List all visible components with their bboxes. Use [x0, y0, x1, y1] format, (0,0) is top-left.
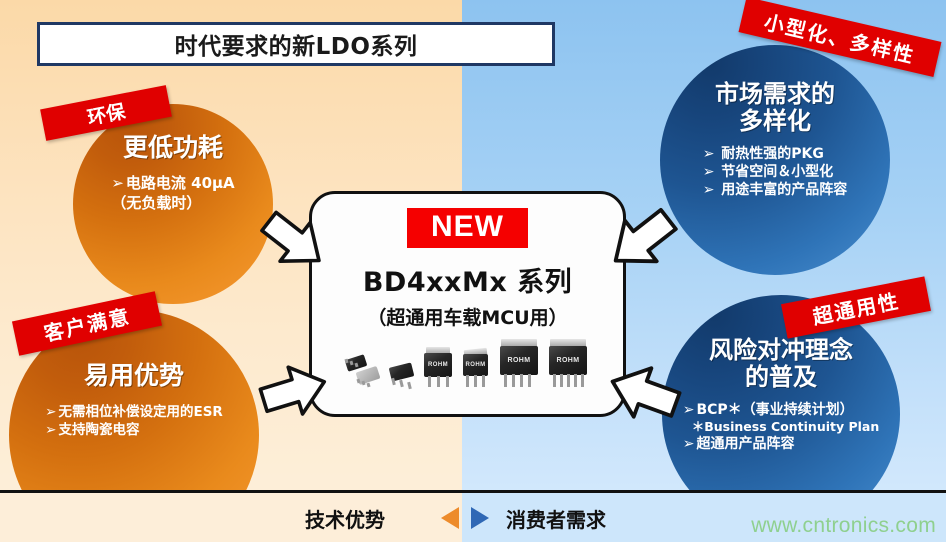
- circle-market-demand-heading: 市场需求的 多样化: [715, 81, 835, 135]
- package-d2pak-small-icon: ROHM: [461, 347, 491, 389]
- list-item: ➢BCP＊（事业持续计划）: [683, 401, 880, 419]
- list-item-label: 用途丰富的产品阵容: [721, 182, 847, 198]
- product-card: NEW BD4xxMx 系列 （超通用车载MCU用）: [309, 191, 626, 417]
- heading-line-2: 多样化: [715, 108, 835, 135]
- circle-low-power-body: ➢电路电流 40μA （无负载时）: [111, 174, 234, 213]
- package-to252-5pin-icon: ROHM: [498, 339, 540, 389]
- arrow-from-ease-of-use-circle: [258, 355, 330, 427]
- arrow-from-low-power-circle: [258, 205, 330, 277]
- package-dpak-icon: ROHM: [422, 347, 454, 389]
- list-item: ➢ 节省空间＆小型化: [703, 163, 848, 181]
- arrow-from-risk-hedge-circle: [606, 355, 682, 431]
- heading-line-1: 风险对冲理念: [709, 337, 853, 364]
- circle-low-power-heading: 更低功耗: [123, 134, 223, 162]
- list-item-label: 电路电流 40μA: [126, 174, 235, 192]
- list-item: ➢超通用产品阵容: [683, 435, 880, 453]
- package-brand-label: ROHM: [424, 362, 452, 368]
- bullet-arrow-icon: ➢: [683, 436, 695, 452]
- bullet-arrow-icon: ➢: [703, 146, 715, 162]
- footer-left-label: 技术优势: [305, 504, 385, 533]
- product-subtitle: （超通用车载MCU用）: [367, 303, 567, 330]
- heading-line-1: 市场需求的: [715, 81, 835, 108]
- list-item: ➢支持陶瓷电容: [45, 422, 223, 440]
- list-item-label: ＊Business Continuity Plan: [692, 419, 880, 434]
- slide-canvas: 时代要求的新LDO系列 更低功耗 ➢电路电流 40μA （无负载时） 环保 易用…: [0, 0, 946, 542]
- list-item-label: 超通用产品阵容: [696, 436, 794, 452]
- package-to263-5pin-icon: ROHM: [547, 339, 589, 389]
- circle-risk-hedge-heading: 风险对冲理念 的普及: [709, 337, 853, 391]
- circle-market-demand: 市场需求的 多样化 ➢ 耐热性强的PKG ➢ 节省空间＆小型化 ➢ 用途丰富的产…: [660, 45, 890, 275]
- bullet-arrow-icon: ➢: [683, 402, 695, 418]
- circle-ease-of-use-body: ➢无需相位补偿设定用的ESR ➢支持陶瓷电容: [45, 404, 223, 439]
- circle-ease-of-use-heading: 易用优势: [84, 362, 184, 390]
- package-sop8-icon: [346, 355, 382, 389]
- package-brand-label: ROHM: [549, 357, 587, 364]
- heading-line-2: 的普及: [709, 364, 853, 391]
- list-item: ➢ 用途丰富的产品阵容: [703, 181, 848, 199]
- list-item-label: 无需相位补偿设定用的ESR: [58, 404, 222, 420]
- bullet-arrow-icon: ➢: [45, 422, 56, 438]
- footer-divider: [0, 490, 946, 493]
- list-item-label: BCP＊（事业持续计划）: [696, 402, 853, 418]
- list-item: （无负载时）: [111, 194, 234, 214]
- circle-low-power: 更低功耗 ➢电路电流 40μA （无负载时）: [73, 104, 273, 304]
- bullet-arrow-icon: ➢: [703, 164, 715, 180]
- slide-title-box: 时代要求的新LDO系列: [37, 22, 555, 66]
- page-title: 时代要求的新LDO系列: [175, 27, 418, 61]
- triangle-left-icon: [441, 507, 459, 529]
- list-item: ➢ 耐热性强的PKG: [703, 145, 848, 163]
- list-item-label: 节省空间＆小型化: [721, 164, 833, 180]
- package-sot223-icon: [389, 363, 415, 389]
- package-brand-label: ROHM: [500, 357, 538, 364]
- list-item-label: 支持陶瓷电容: [58, 422, 139, 438]
- new-badge: NEW: [407, 208, 528, 248]
- watermark: www.cntronics.com: [751, 514, 936, 538]
- list-item: ➢电路电流 40μA: [111, 174, 234, 194]
- bullet-arrow-icon: ➢: [45, 404, 56, 420]
- product-part-number: BD4xxMx 系列: [363, 260, 572, 299]
- list-item-label: （无负载时）: [111, 194, 201, 212]
- circle-risk-hedge-body: ➢BCP＊（事业持续计划） ＊Business Continuity Plan …: [683, 401, 880, 454]
- ribbon-badge-label: 环保: [85, 96, 127, 130]
- footer-right-label: 消费者需求: [506, 504, 606, 533]
- package-lineup-images: ROHM ROHM ROHM: [346, 337, 589, 389]
- bullet-arrow-icon: ➢: [703, 182, 715, 198]
- circle-market-demand-body: ➢ 耐热性强的PKG ➢ 节省空间＆小型化 ➢ 用途丰富的产品阵容: [703, 145, 848, 200]
- list-item-label: 耐热性强的PKG: [721, 146, 824, 162]
- list-item: ➢无需相位补偿设定用的ESR: [45, 404, 223, 422]
- package-brand-label: ROHM: [463, 362, 488, 368]
- list-item: ＊Business Continuity Plan: [683, 419, 880, 435]
- arrow-from-market-demand-circle: [604, 202, 680, 278]
- triangle-right-icon: [471, 507, 489, 529]
- bullet-arrow-icon: ➢: [111, 174, 124, 192]
- footer-left-half: [0, 490, 462, 542]
